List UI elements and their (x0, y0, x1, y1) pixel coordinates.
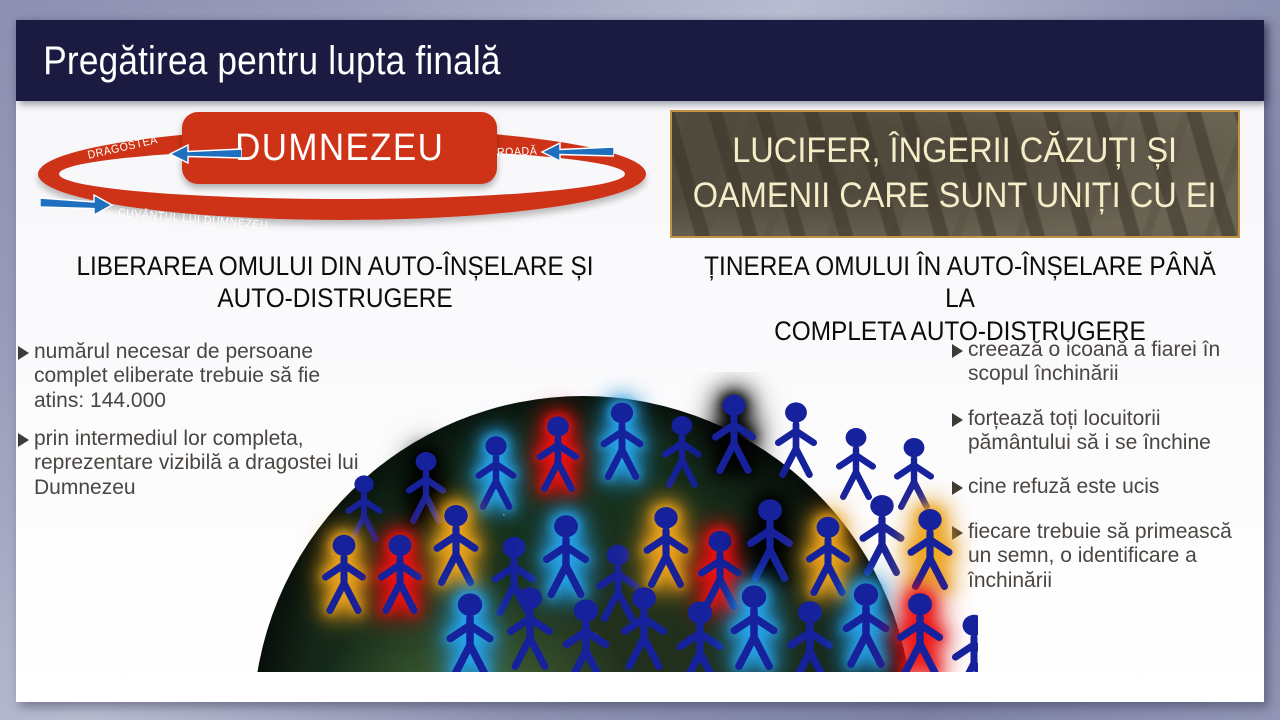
page-title: Pregătirea pentru lupta finală (16, 41, 501, 81)
bullet-item: forțează toți locuitorii pământului să i… (952, 407, 1252, 456)
subhead-right: ȚINEREA OMULUI ÎN AUTO-ÎNȘELARE PÂNĂ LA … (672, 250, 1248, 347)
stick-figure (345, 474, 383, 542)
lucifer-title-box: LUCIFER, ÎNGERII CĂZUȚI ȘI OAMENII CARE … (670, 110, 1240, 238)
stick-figure (786, 599, 834, 672)
subhead-left-line2: AUTO-DISTRUGERE (64, 282, 607, 314)
slide-title-bar: Pregătirea pentru lupta finală (16, 20, 1264, 101)
stick-figure (896, 591, 944, 672)
stick-figure (562, 598, 611, 672)
slide-stage: Pregătirea pentru lupta finală DUMNEZEU … (0, 0, 1280, 720)
bullet-item: creează o icoană a fiarei în scopul înch… (952, 338, 1252, 387)
subhead-right-line1: ȚINEREA OMULUI ÎN AUTO-ÎNȘELARE PÂNĂ LA (695, 250, 1225, 315)
arrow-right-icon (540, 142, 614, 162)
stick-figure (321, 533, 367, 614)
stick-figure (600, 401, 645, 480)
lucifer-title-line1: LUCIFER, ÎNGERII CĂZUȚI ȘI (693, 129, 1217, 174)
stick-figure (711, 393, 757, 474)
arrow-left-icon (168, 144, 242, 164)
stick-figure (620, 585, 668, 670)
stick-figure (377, 533, 423, 614)
bullet-list-right: creează o icoană a fiarei în scopul înch… (952, 338, 1252, 613)
bullet-triangle-icon (18, 433, 29, 447)
bullet-triangle-icon (952, 344, 963, 358)
stick-figure (835, 426, 877, 500)
bullet-triangle-icon (18, 346, 29, 360)
stick-figure (661, 414, 703, 488)
stick-figure (433, 503, 480, 586)
diagram-label-roada: ROADĂ (497, 146, 538, 159)
stick-figure (730, 584, 779, 670)
earth-crowd-image (188, 372, 978, 672)
stick-figure (859, 493, 906, 576)
stick-figure (951, 613, 978, 672)
stick-figure (475, 435, 518, 510)
lucifer-title-line2: OAMENII CARE SUNT UNIȚI CU EI (693, 174, 1217, 219)
bullet-text: creează o icoană a fiarei în scopul înch… (968, 338, 1252, 387)
subhead-left: LIBERAREA OMULUI DIN AUTO-ÎNȘELARE ȘI AU… (40, 250, 630, 315)
stick-figure (506, 585, 554, 670)
bullet-text: forțează toți locuitorii pământului să i… (968, 407, 1252, 456)
stick-figure (907, 507, 954, 590)
stick-figure (536, 415, 580, 492)
dumnezeu-label: DUMNEZEU (235, 127, 444, 170)
stick-figure (842, 582, 891, 668)
bullet-item: cine refuză este ucis (952, 475, 1252, 499)
bullet-item: fiecare trebuie să primească un semn, o … (952, 520, 1252, 593)
stick-figure (774, 401, 818, 478)
stick-figure (676, 600, 725, 672)
stick-figure (446, 592, 495, 672)
arrow-bottom-icon (40, 194, 114, 216)
stick-figure (643, 505, 690, 588)
bullet-text: cine refuză este ucis (968, 475, 1252, 499)
bullet-text: fiecare trebuie să primească un semn, o … (968, 520, 1252, 593)
stick-figure (746, 497, 794, 582)
subhead-left-line1: LIBERAREA OMULUI DIN AUTO-ÎNȘELARE ȘI (64, 250, 607, 282)
god-cycle-diagram: DUMNEZEU DRAGOSTEA ROADĂ CUVÂNTUL LUI DU… (16, 108, 666, 233)
lucifer-title-text: LUCIFER, ÎNGERII CĂZUȚI ȘI OAMENII CARE … (693, 129, 1217, 219)
